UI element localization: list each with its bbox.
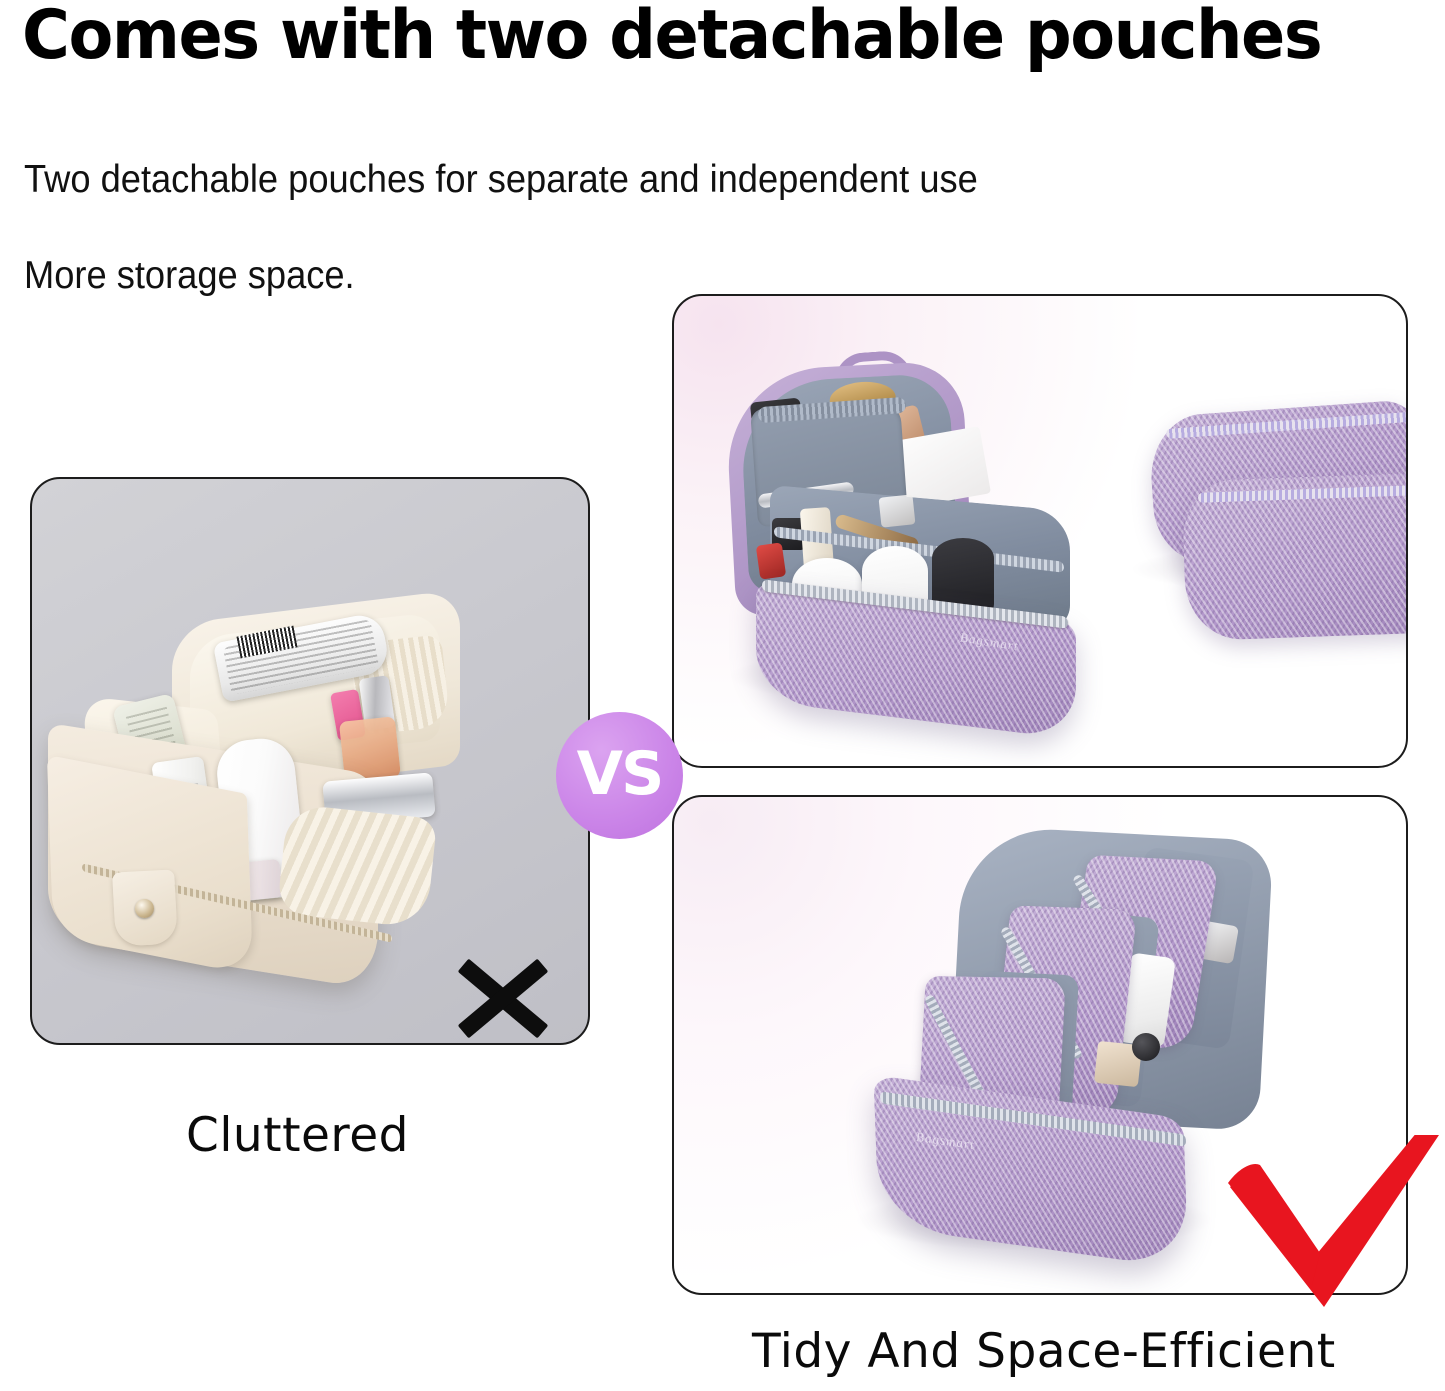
vs-badge: VS xyxy=(556,712,683,839)
cream-toiletry-bag xyxy=(42,599,472,959)
subtitle-line-2: More storage space. xyxy=(24,254,355,298)
purple-organized-bag: Bagsmart xyxy=(824,827,1294,1267)
tidy-caption: Tidy And Space-Efficient xyxy=(752,1324,1336,1379)
subtitle-line-1: Two detachable pouches for separate and … xyxy=(24,158,978,202)
detachable-pouches-panel: Bagsmart xyxy=(672,294,1408,768)
pouches-product-photo: Bagsmart xyxy=(674,296,1406,766)
red-lipstick xyxy=(756,542,786,579)
check-mark-icon xyxy=(1228,1135,1443,1320)
vs-badge-label: VS xyxy=(577,744,663,804)
x-mark-icon xyxy=(455,950,551,1046)
check-mark-svg xyxy=(1228,1135,1443,1320)
clear-container xyxy=(879,494,916,527)
loose-fabric xyxy=(277,803,438,928)
snap-button xyxy=(135,899,154,918)
purple-toiletry-bag-open: Bagsmart xyxy=(714,348,1114,728)
black-round-item xyxy=(1132,1033,1160,1061)
page-title: Comes with two detachable pouches xyxy=(22,0,1366,74)
cluttered-caption: Cluttered xyxy=(186,1108,409,1163)
